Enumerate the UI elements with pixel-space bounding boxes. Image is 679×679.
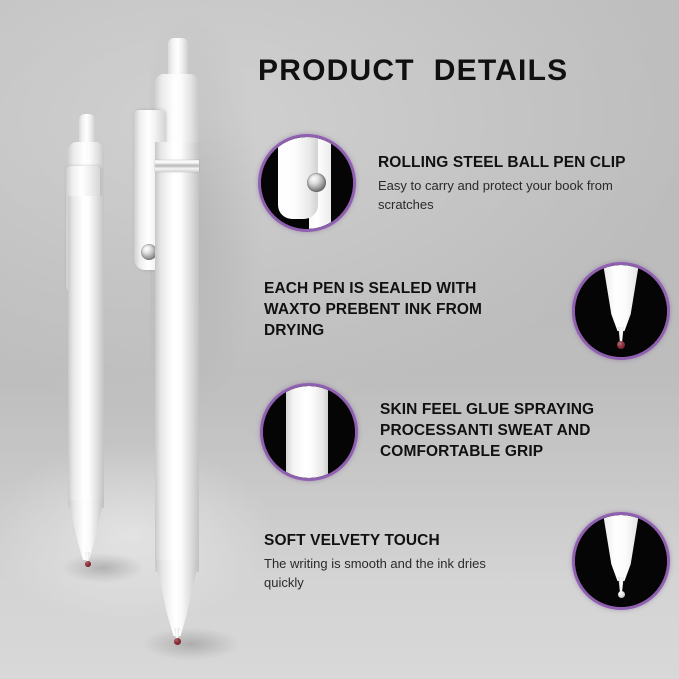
pen-cone-shape [599,515,643,581]
feature-1-text: ROLLING STEEL BALL PEN CLIP Easy to carr… [378,152,626,214]
feature-4-subtitle: The writing is smooth and the ink dries … [264,554,486,592]
feature-2-title: EACH PEN IS SEALED WITH WAXTO PREBENT IN… [264,278,482,341]
pen-front-nib-ball [174,638,181,645]
pen-clip-closeup-icon [261,137,353,229]
feature-2-text: EACH PEN IS SEALED WITH WAXTO PREBENT IN… [264,278,482,344]
feature-3-image-bubble [260,383,358,481]
feature-1-image-bubble [258,134,356,232]
feature-3-text: SKIN FEEL GLUE SPRAYING PROCESSANTI SWEA… [380,399,594,465]
pen-tip-red-ball-icon [575,265,667,357]
feature-1-subtitle: Easy to carry and protect your book from… [378,176,626,214]
feature-1-title: ROLLING STEEL BALL PEN CLIP [378,152,626,173]
pen-front [0,0,256,679]
feature-3-title: SKIN FEEL GLUE SPRAYING PROCESSANTI SWEA… [380,399,594,462]
feature-sealed-with-wax: EACH PEN IS SEALED WITH WAXTO PREBENT IN… [264,262,670,360]
pen-front-barrel [155,142,199,572]
page-title: PRODUCT DETAILS [258,54,568,88]
feature-4-image-bubble [572,512,670,610]
pen-tip-silver-icon [575,515,667,607]
feature-soft-velvety-touch: SOFT VELVETY TOUCH The writing is smooth… [264,512,670,610]
grip-barrel-shape [286,386,328,478]
pen-cone-shape [599,265,643,331]
pen-front-ring-band [155,160,199,172]
feature-4-title: SOFT VELVETY TOUCH [264,530,486,551]
ink-ball-icon [617,341,625,349]
feature-rolling-steel-ball-pen-clip: ROLLING STEEL BALL PEN CLIP Easy to carr… [258,134,670,232]
pen-grip-barrel-icon [263,386,355,478]
nib-ball-icon [618,591,625,598]
pen-front-cone [155,560,199,636]
product-details-canvas: PRODUCT DETAILS ROLLING STEEL BALL PEN C… [0,0,679,679]
feature-2-image-bubble [572,262,670,360]
pen-front-shadow [126,622,256,666]
feature-skin-feel-glue-spraying: SKIN FEEL GLUE SPRAYING PROCESSANTI SWEA… [260,383,672,481]
steel-ball-icon [307,173,326,192]
feature-4-text: SOFT VELVETY TOUCH The writing is smooth… [264,530,486,592]
product-photo-stage [0,0,256,679]
